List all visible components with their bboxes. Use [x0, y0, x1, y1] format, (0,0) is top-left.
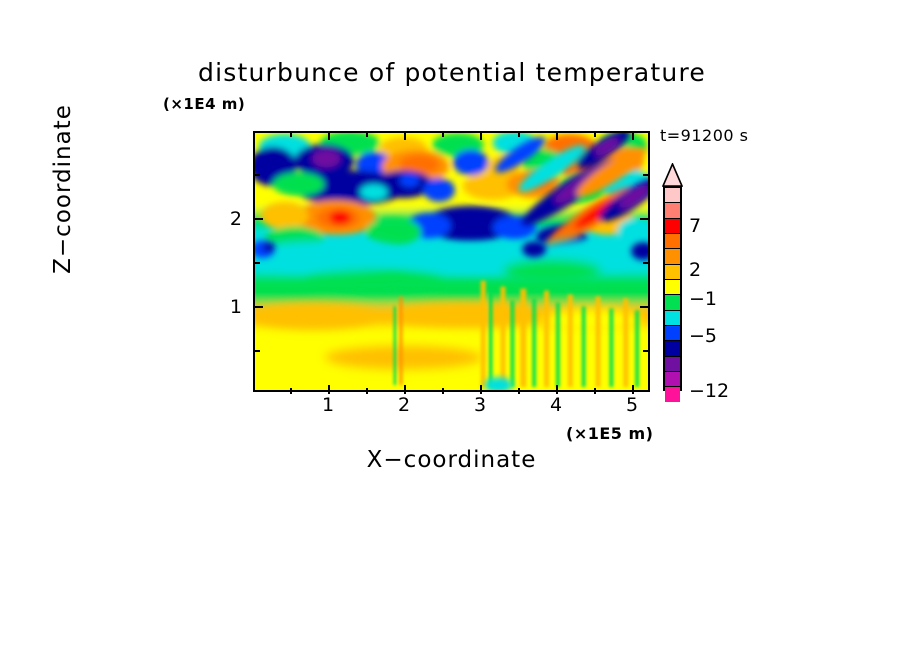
y-axis-title: Z−coordinate [50, 74, 76, 304]
x-tick-label-5: 5 [612, 394, 652, 416]
x-tick-label-2: 2 [384, 394, 424, 416]
colorbar-arrow-cap [662, 163, 683, 187]
colorbar-segment [665, 341, 680, 356]
colorbar-segment [665, 249, 680, 264]
y-tick-label-2: 2 [212, 208, 242, 230]
colorbar-segment [665, 203, 680, 218]
colorbar-label-2: 2 [689, 259, 701, 281]
colorbar-segment [665, 372, 680, 387]
x-tick-label-3: 3 [460, 394, 500, 416]
x-tick-label-1: 1 [308, 394, 348, 416]
colorbar-segment [665, 280, 680, 295]
z-axis-unit-label: (×1E4 m) [163, 95, 245, 113]
colorbar-label-7: 7 [689, 215, 701, 237]
x-axis-title: X−coordinate [253, 447, 650, 473]
colorbar-segment [665, 219, 680, 234]
contour-field [255, 133, 648, 390]
x-axis-unit-label: (×1E5 m) [566, 424, 653, 443]
contour-plot-panel [253, 131, 650, 392]
colorbar-segment [665, 311, 680, 326]
page-title: disturbunce of potential temperature [0, 58, 904, 87]
time-annotation: t=91200 s [660, 126, 749, 145]
colorbar-label-neg1: −1 [689, 288, 717, 310]
colorbar-segment [665, 188, 680, 203]
colorbar-label-neg12: −12 [689, 380, 729, 402]
colorbar-segment [665, 295, 680, 310]
colorbar-segment [665, 265, 680, 280]
y-tick-label-1: 1 [212, 296, 242, 318]
colorbar-label-neg5: −5 [689, 325, 717, 347]
colorbar-segment [665, 387, 680, 401]
colorbar-segment [665, 326, 680, 341]
colorbar-segment [665, 357, 680, 372]
colorbar-segment [665, 234, 680, 249]
colorbar [663, 186, 682, 391]
x-tick-label-4: 4 [536, 394, 576, 416]
